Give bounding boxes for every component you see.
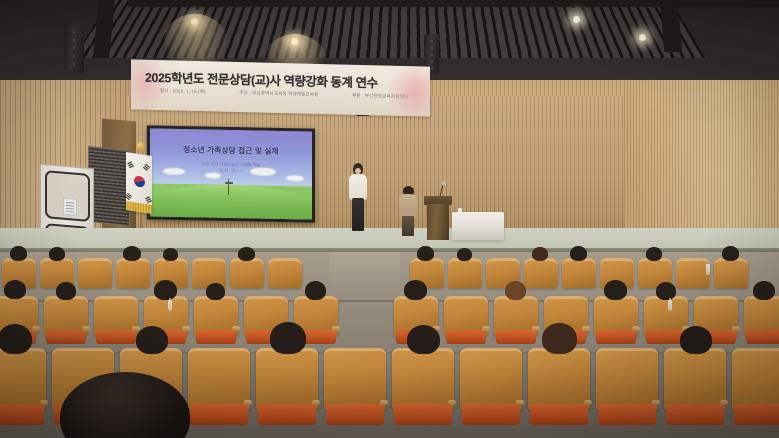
banner-subtitle-sponsor: 후원 : 부산진로교육지원센터 [352, 93, 408, 100]
seat-cushion [496, 330, 536, 344]
attendee-head [154, 280, 177, 300]
seat-cushion [598, 404, 656, 425]
seat-armrest [582, 326, 590, 331]
attendee-head [505, 281, 526, 300]
ceiling-grid [73, 0, 706, 58]
seat-cushion [446, 330, 486, 344]
seat-cushion [46, 330, 86, 344]
attendee-head [417, 246, 434, 261]
auditorium-seat [460, 348, 522, 410]
ceiling-beam-cross [128, 0, 779, 7]
draped-table [452, 212, 504, 240]
attendee-head [656, 282, 676, 300]
auditorium-seat [664, 348, 726, 410]
seat-cushion [746, 330, 779, 344]
projected-slide: 청소년 가족상담 접근 및 실제 - 부모-자녀 가족상담의 이해와 적용 - … [150, 128, 312, 219]
water-bottle-icon [706, 264, 710, 275]
attendee-head [163, 248, 178, 261]
seat-armrest [232, 326, 240, 331]
attendee-head [56, 282, 76, 300]
attendee-head [4, 280, 26, 299]
auditorium-seat [562, 258, 596, 288]
auditorium-seat [392, 348, 454, 410]
attendee-head [305, 281, 326, 300]
seat-cushion [734, 404, 779, 425]
attendee-head [0, 324, 32, 354]
seat-cushion [190, 404, 248, 425]
seat-armrest [82, 326, 90, 331]
auditorium-seat [448, 258, 482, 288]
attendee-head [206, 283, 225, 300]
seat-armrest [40, 400, 48, 405]
floor-step-edge [0, 352, 779, 354]
auditorium-seat [256, 348, 318, 410]
presenter-bowing-torso [399, 194, 417, 218]
line-array-speaker-left [64, 23, 84, 73]
spotlight-icon [290, 30, 299, 42]
korean-flag-icon [126, 152, 152, 214]
seat-armrest [720, 400, 728, 405]
attendee-head [570, 246, 587, 261]
seat-armrest [380, 400, 388, 405]
seat-cushion [530, 404, 588, 425]
attendee-head [646, 247, 662, 261]
seat-armrest [652, 400, 660, 405]
trigram-icon [127, 162, 132, 165]
auditorium-seat [524, 258, 558, 288]
seat-cushion [462, 404, 520, 425]
seat-armrest [516, 400, 524, 405]
flag-fringe [126, 201, 152, 214]
attendee-head [238, 247, 255, 261]
auditorium-seat [676, 258, 710, 288]
seat-cushion [96, 330, 136, 344]
seat-armrest [182, 326, 190, 331]
attendee-head [407, 325, 440, 354]
auditorium-scene: 2025학년도 전문상담(교)사 역량강화 동계 연수 일시 : 2026. 1… [0, 0, 779, 438]
trigram-icon [145, 196, 150, 199]
auditorium-seat [230, 258, 264, 288]
taeguk-circle-icon [134, 175, 145, 188]
presenter-bowing-legs [402, 216, 414, 236]
seat-armrest [244, 400, 252, 405]
seat-cushion [596, 330, 636, 344]
seat-armrest [312, 400, 320, 405]
banner-subtitle-date: 일시 : 2026. 1. 15.(목) [160, 88, 206, 95]
attendee-head [49, 247, 65, 261]
event-banner: 2025학년도 전문상담(교)사 역량강화 동계 연수 일시 : 2026. 1… [131, 59, 430, 116]
auditorium-seat [324, 348, 386, 410]
seat-armrest [584, 400, 592, 405]
auditorium-seat [78, 258, 112, 288]
seat-armrest [448, 400, 456, 405]
attendee-head [123, 246, 141, 261]
auditorium-seat [528, 348, 590, 410]
lectern-body [427, 204, 449, 240]
slide-grass-hill [150, 183, 312, 219]
trigram-icon [127, 193, 132, 197]
water-bottle-icon [668, 300, 672, 311]
auditorium-seat [0, 348, 46, 410]
attendee-head [10, 246, 27, 261]
banner-subtitle-host: 주관 : 부산광역시교육청 학생개발교육원 [239, 90, 318, 98]
seat-cushion [196, 330, 236, 344]
seat-cushion [394, 404, 452, 425]
presenter-standing-legs [352, 198, 364, 231]
slide-fencepost-icon [228, 179, 230, 195]
projection-screen: 청소년 가족상담 접근 및 실제 - 부모-자녀 가족상담의 이해와 적용 - … [147, 125, 315, 222]
seat-armrest [332, 326, 340, 331]
attendee-head [270, 322, 306, 354]
attendee-head [680, 326, 712, 354]
auditorium-seat [596, 348, 658, 410]
posted-notice-sign [63, 198, 77, 216]
seat-cushion [0, 404, 44, 425]
lectern [424, 196, 452, 240]
center-aisle [330, 252, 400, 292]
auditorium-seat [116, 258, 150, 288]
seat-armrest [32, 326, 40, 331]
presenter-standing [347, 163, 369, 231]
seat-armrest [732, 326, 740, 331]
trigram-icon [145, 164, 150, 168]
seat-cushion [666, 404, 724, 425]
attendee-head [532, 247, 548, 261]
seat-armrest [532, 326, 540, 331]
auditorium-seat [268, 258, 302, 288]
attendee-head [604, 280, 627, 300]
attendee-head [542, 323, 577, 354]
auditorium-seat [188, 348, 250, 410]
presenter-bowing [398, 186, 418, 236]
spotlight-icon [638, 26, 647, 38]
spotlight-icon [190, 10, 199, 22]
seat-cushion [258, 404, 316, 425]
cabinet-upper-panel [45, 170, 90, 222]
attendee-head [136, 326, 168, 354]
table-item-icon [458, 208, 462, 214]
auditorium-seat [714, 258, 748, 288]
attendee-head [753, 281, 775, 300]
seat-armrest [632, 326, 640, 331]
attendee-head [722, 246, 739, 261]
cloud-icon [286, 175, 304, 181]
seat-cushion [326, 404, 384, 425]
spotlight-icon [572, 8, 581, 20]
seat-armrest [482, 326, 490, 331]
attendee-head [404, 280, 427, 300]
auditorium-seat [192, 258, 226, 288]
attendee-head [457, 248, 472, 261]
auditorium-seat [732, 348, 779, 410]
water-bottle-icon [168, 300, 172, 311]
